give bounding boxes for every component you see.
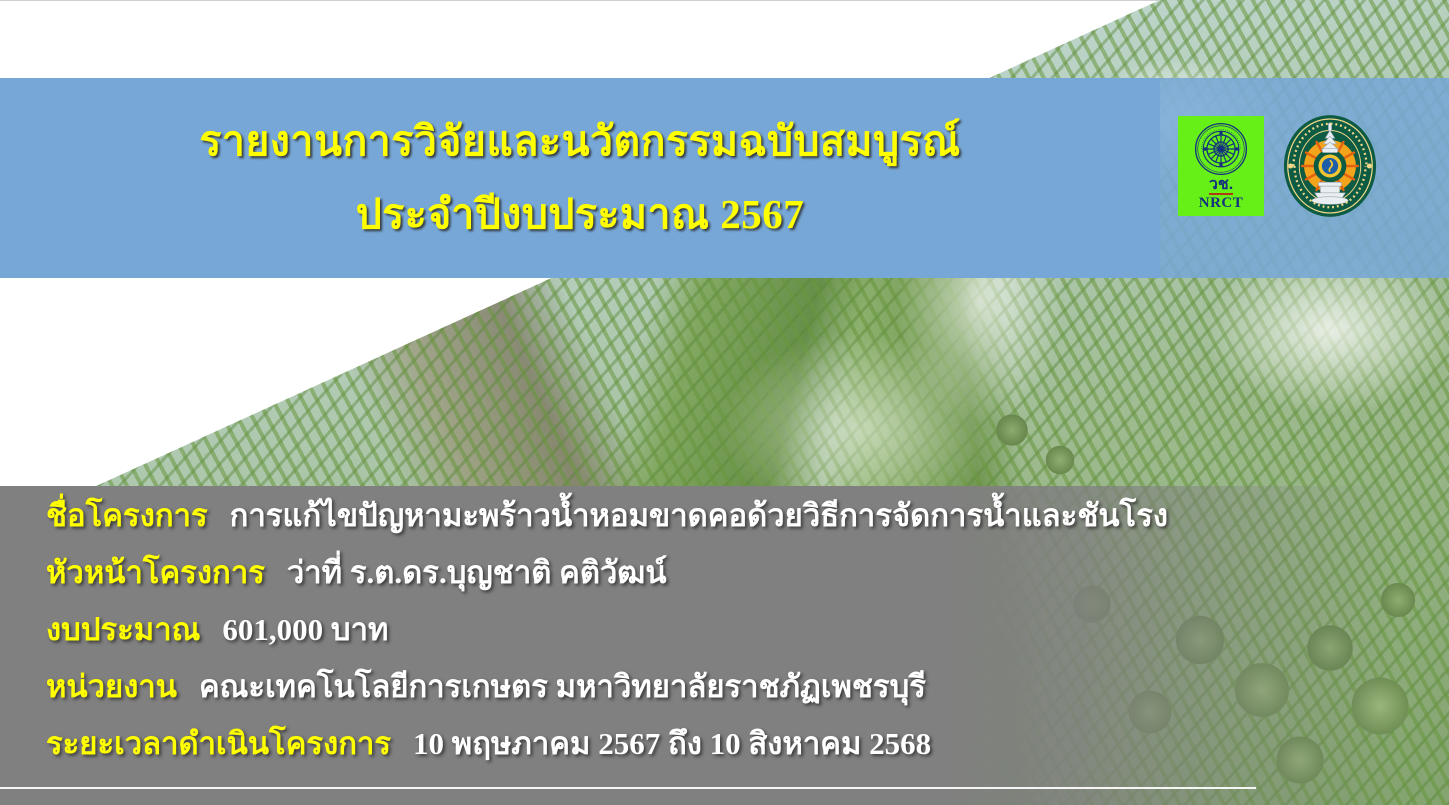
logo-group: วช. NRCT — [1178, 113, 1378, 219]
info-value: 601,000 บาท — [222, 612, 388, 647]
info-label: หัวหน้าโครงการ — [46, 555, 265, 590]
info-row-project-name: ชื่อโครงการการแก้ไขปัญหามะพร้าวน้ำหอมขาด… — [46, 500, 1376, 531]
info-row-budget: งบประมาณ601,000 บาท — [46, 614, 1376, 645]
phetchaburi-rajabhat-university-seal-icon — [1282, 113, 1378, 219]
info-value: คณะเทคโนโลยีการเกษตร มหาวิทยาลัยราชภัฏเพ… — [199, 669, 926, 704]
info-label: งบประมาณ — [46, 612, 200, 647]
info-label: ระยะเวลาดำเนินโครงการ — [46, 726, 391, 761]
nrct-thai-abbr: วช. — [1209, 177, 1233, 195]
report-title-line-2: ประจำปีงบประมาณ 2567 — [356, 182, 805, 247]
poster-canvas: รายงานการวิจัยและนวัตกรรมฉบับสมบูรณ์ ประ… — [0, 0, 1449, 805]
nrct-logo: วช. NRCT — [1178, 116, 1264, 216]
info-label: ชื่อโครงการ — [46, 498, 208, 533]
info-row-project-leader: หัวหน้าโครงการว่าที่ ร.ต.ดร.บุญชาติ คติว… — [46, 557, 1376, 588]
nrct-english-abbr: NRCT — [1199, 195, 1244, 212]
info-row-organization: หน่วยงานคณะเทคโนโลยีการเกษตร มหาวิทยาลัย… — [46, 671, 1376, 702]
bottom-rule — [0, 787, 1256, 789]
info-label: หน่วยงาน — [46, 669, 177, 704]
info-value: การแก้ไขปัญหามะพร้าวน้ำหอมขาดคอด้วยวิธีก… — [230, 498, 1168, 533]
info-value: ว่าที่ ร.ต.ดร.บุญชาติ คติวัฒน์ — [287, 555, 667, 590]
info-value: 10 พฤษภาคม 2567 ถึง 10 สิงหาคม 2568 — [413, 726, 931, 761]
project-info-list: ชื่อโครงการการแก้ไขปัญหามะพร้าวน้ำหอมขาด… — [46, 500, 1376, 785]
info-row-duration: ระยะเวลาดำเนินโครงการ10 พฤษภาคม 2567 ถึง… — [46, 728, 1376, 759]
nrct-seal-icon — [1193, 122, 1249, 176]
report-title-line-1: รายงานการวิจัยและนวัตกรรมฉบับสมบูรณ์ — [199, 109, 960, 174]
title-block: รายงานการวิจัยและนวัตกรรมฉบับสมบูรณ์ ประ… — [0, 78, 1160, 278]
